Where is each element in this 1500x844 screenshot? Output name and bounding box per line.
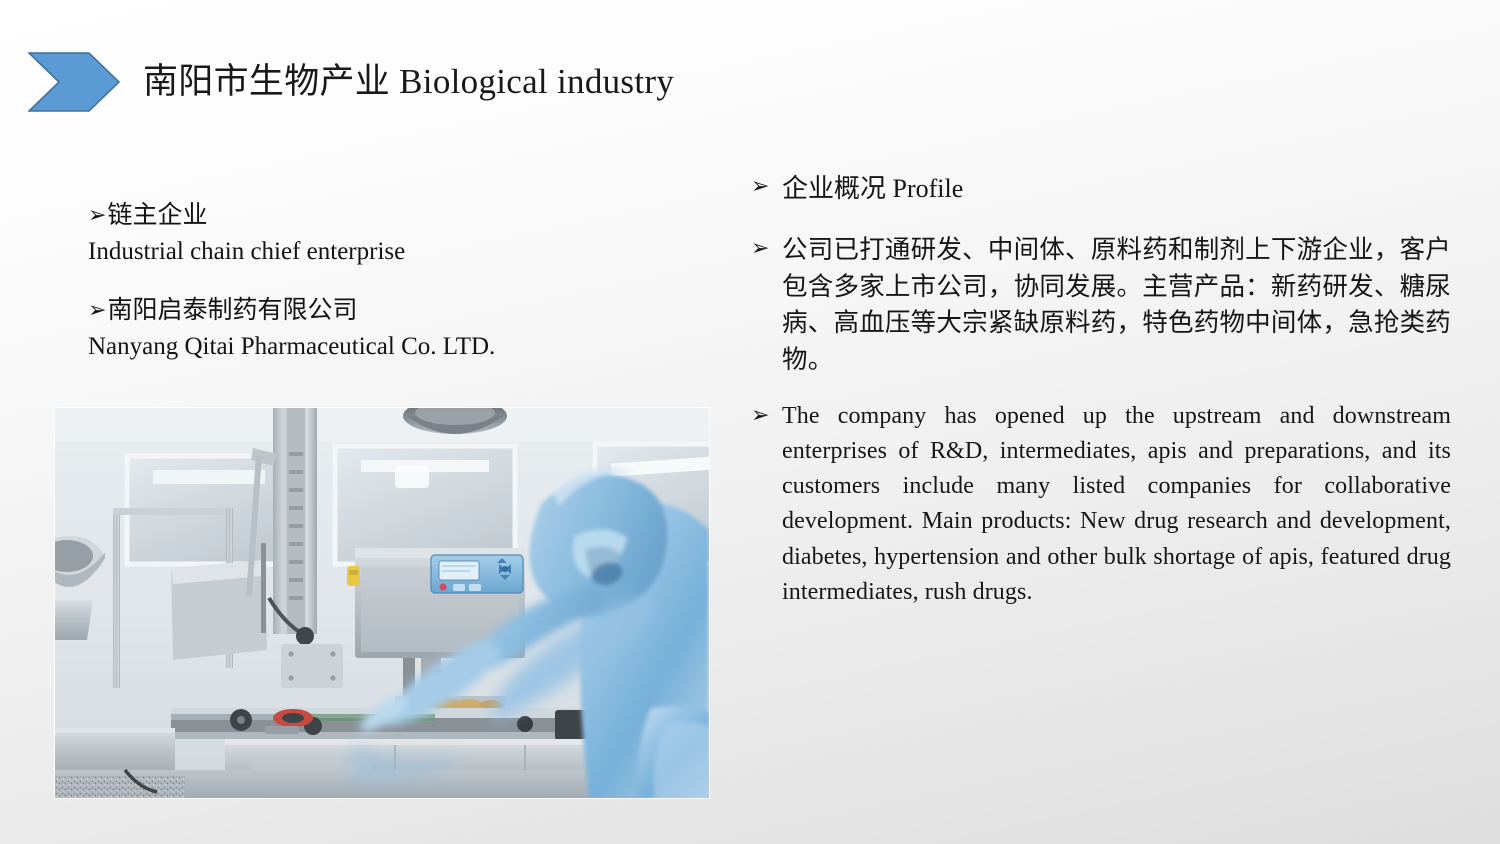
company-name-en: Nanyang Qitai Pharmaceutical Co. LTD. [88, 331, 718, 364]
profile-heading: ➢ 企业概况 Profile [751, 172, 1451, 206]
profile-paragraph-cn-text: 公司已打通研发、中间体、原料药和制剂上下游企业，客户包含多家上市公司，协同发展。… [782, 235, 1451, 374]
chevron-arrow-icon [28, 52, 120, 112]
left-column: ➢链主企业 Industrial chain chief enterprise … [88, 200, 718, 389]
chain-chief-enterprise-en: Industrial chain chief enterprise [88, 236, 718, 269]
bullet-arrow-icon: ➢ [751, 399, 770, 431]
right-column: ➢ 企业概况 Profile ➢ 公司已打通研发、中间体、原料药和制剂上下游企业… [751, 172, 1451, 626]
bullet-arrow-icon: ➢ [88, 201, 106, 229]
chain-chief-enterprise-cn: ➢链主企业 [88, 200, 718, 232]
factory-photo-image [55, 408, 709, 798]
profile-heading-text: 企业概况 Profile [782, 174, 963, 203]
chain-chief-enterprise-cn-text: 链主企业 [107, 202, 207, 229]
profile-paragraph-en-text: The company has opened up the upstream a… [782, 403, 1451, 605]
bullet-arrow-icon: ➢ [751, 232, 770, 264]
company-name-cn-text: 南阳启泰制药有限公司 [107, 297, 357, 324]
factory-photo [55, 408, 709, 798]
chain-chief-enterprise-block: ➢链主企业 Industrial chain chief enterprise [88, 200, 718, 269]
slide-canvas: 南阳市生物产业 Biological industry ➢链主企业 Indust… [0, 0, 1500, 844]
page-title: 南阳市生物产业 Biological industry [143, 42, 674, 122]
bullet-arrow-icon: ➢ [88, 296, 106, 324]
profile-paragraph-cn: ➢ 公司已打通研发、中间体、原料药和制剂上下游企业，客户包含多家上市公司，协同发… [751, 232, 1451, 379]
company-name-block: ➢南阳启泰制药有限公司 Nanyang Qitai Pharmaceutical… [88, 295, 718, 364]
profile-paragraph-en: ➢ The company has opened up the upstream… [751, 399, 1451, 611]
slide-header: 南阳市生物产业 Biological industry [0, 42, 1500, 122]
company-name-cn: ➢南阳启泰制药有限公司 [88, 295, 718, 327]
bullet-arrow-icon: ➢ [751, 172, 769, 201]
